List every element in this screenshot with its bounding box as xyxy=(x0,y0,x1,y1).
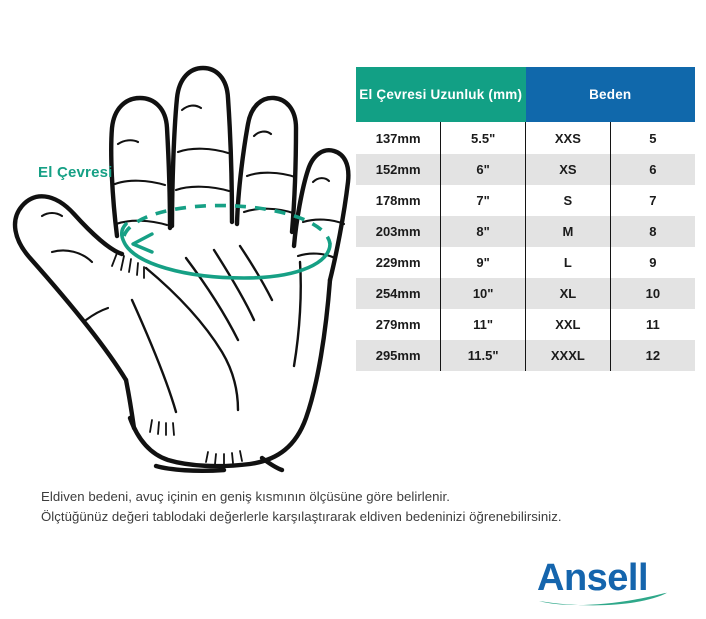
cell-circumference-mm: 203mm xyxy=(356,216,441,247)
table-header: El Çevresi Uzunluk (mm) Beden xyxy=(356,67,695,122)
cell-circumference-inch: 11.5" xyxy=(441,340,526,371)
cell-circumference-inch: 8" xyxy=(441,216,526,247)
table-row: 152mm6"XS6 xyxy=(356,154,695,185)
instruction-line-2: Ölçtüğünüz değeri tablodaki değerlerle k… xyxy=(41,507,671,527)
ansell-logo: Ansell xyxy=(535,556,685,608)
cell-size-number: 9 xyxy=(610,247,695,278)
cell-circumference-inch: 6" xyxy=(441,154,526,185)
cell-circumference-mm: 178mm xyxy=(356,185,441,216)
cell-circumference-mm: 295mm xyxy=(356,340,441,371)
table-row: 178mm7"S7 xyxy=(356,185,695,216)
column-header-size: Beden xyxy=(526,67,696,122)
table-header-row: El Çevresi Uzunluk (mm) Beden xyxy=(356,67,695,122)
cell-circumference-mm: 152mm xyxy=(356,154,441,185)
table-row: 203mm8"M8 xyxy=(356,216,695,247)
cell-circumference-inch: 7" xyxy=(441,185,526,216)
hand-circumference-label: El Çevresi xyxy=(38,164,113,181)
cell-circumference-mm: 279mm xyxy=(356,309,441,340)
size-chart-page: El Çevresi El Çevresi Uzunluk (mm) Beden… xyxy=(0,0,706,619)
cell-size-label: XXS xyxy=(526,122,611,154)
table-row: 229mm9"L9 xyxy=(356,247,695,278)
table-row: 279mm11"XXL11 xyxy=(356,309,695,340)
table-row: 137mm5.5"XXS5 xyxy=(356,122,695,154)
table-body: 137mm5.5"XXS5152mm6"XS6178mm7"S7203mm8"M… xyxy=(356,122,695,371)
cell-size-label: XXL xyxy=(526,309,611,340)
table-row: 295mm11.5"XXXL12 xyxy=(356,340,695,371)
cell-circumference-mm: 137mm xyxy=(356,122,441,154)
cell-size-number: 8 xyxy=(610,216,695,247)
cell-size-number: 7 xyxy=(610,185,695,216)
cell-circumference-inch: 10" xyxy=(441,278,526,309)
instruction-line-1: Eldiven bedeni, avuç içinin en geniş kıs… xyxy=(41,487,671,507)
column-header-circumference: El Çevresi Uzunluk (mm) xyxy=(356,67,526,122)
cell-size-label: XS xyxy=(526,154,611,185)
cell-size-number: 5 xyxy=(610,122,695,154)
cell-circumference-inch: 11" xyxy=(441,309,526,340)
cell-size-label: XXXL xyxy=(526,340,611,371)
cell-circumference-mm: 254mm xyxy=(356,278,441,309)
cell-size-label: M xyxy=(526,216,611,247)
cell-circumference-inch: 9" xyxy=(441,247,526,278)
instruction-text: Eldiven bedeni, avuç içinin en geniş kıs… xyxy=(41,487,671,527)
cell-size-label: L xyxy=(526,247,611,278)
cell-size-label: XL xyxy=(526,278,611,309)
cell-size-number: 10 xyxy=(610,278,695,309)
cell-circumference-inch: 5.5" xyxy=(441,122,526,154)
table-row: 254mm10"XL10 xyxy=(356,278,695,309)
size-table: El Çevresi Uzunluk (mm) Beden 137mm5.5"X… xyxy=(356,67,695,371)
cell-circumference-mm: 229mm xyxy=(356,247,441,278)
hand-illustration xyxy=(0,0,352,480)
cell-size-label: S xyxy=(526,185,611,216)
cell-size-number: 6 xyxy=(610,154,695,185)
cell-size-number: 11 xyxy=(610,309,695,340)
logo-wordmark-text: Ansell xyxy=(537,557,648,599)
cell-size-number: 12 xyxy=(610,340,695,371)
